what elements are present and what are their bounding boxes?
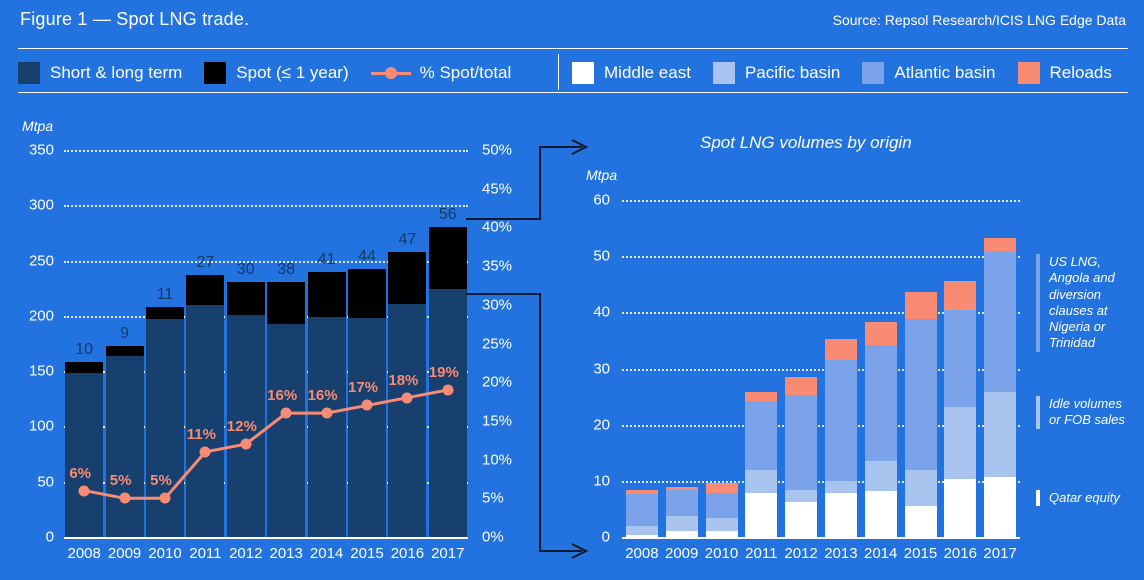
pct-point-2011[interactable] [200,446,211,457]
right-bar-segment-pacific-basin [745,470,777,493]
right-bar-segment-reloads [865,322,897,345]
left-bar-value-label: 11 [146,286,184,304]
right-bar-2016[interactable] [944,281,976,537]
right-bar-segment-pacific-basin [825,481,857,493]
left-y2-tick: 45% [482,180,512,197]
right-bar-segment-middle-east [745,493,777,537]
right-x-tick: 2009 [662,545,702,562]
left-bar-value-label: 10 [65,341,103,359]
left-y-tick: 150 [10,363,54,380]
right-bar-2011[interactable] [745,392,777,537]
right-chart-annotation-1: Idle volumes or FOB sales [1036,396,1128,429]
left-bar-segment-spot [348,269,386,318]
left-bar-value-label: 44 [348,248,386,266]
left-y-tick: 0 [10,529,54,546]
right-bar-segment-atlantic-basin [865,345,897,460]
left-y2-tick: 15% [482,412,512,429]
left-bar-segment-long-term [65,373,103,537]
figure-root: Figure 1 — Spot LNG trade. Source: Repso… [0,0,1144,580]
pct-value-label: 11% [187,426,216,443]
right-y-tick: 10 [566,472,610,489]
left-bar-value-label: 30 [227,261,265,279]
left-x-tick: 2015 [347,545,387,562]
right-bar-2010[interactable] [706,483,738,537]
right-bar-segment-middle-east [785,502,817,537]
right-y-tick: 0 [566,529,610,546]
right-bar-segment-middle-east [666,531,698,537]
right-gridline [622,200,1020,202]
pct-value-label: 5% [150,472,172,489]
right-bar-segment-middle-east [626,535,658,537]
right-bar-segment-middle-east [944,479,976,537]
right-bar-segment-pacific-basin [626,526,658,535]
right-bar-segment-middle-east [706,531,738,537]
right-bar-2013[interactable] [825,339,857,537]
right-y-tick: 30 [566,360,610,377]
left-bar-segment-spot [186,275,224,305]
left-bar-segment-long-term [429,289,467,537]
right-bar-2014[interactable] [865,322,897,537]
left-bar-value-label: 56 [429,206,467,224]
left-y-tick: 300 [10,197,54,214]
left-x-tick: 2008 [64,545,104,562]
left-bar-2014[interactable] [308,272,346,537]
left-y2-tick: 50% [482,142,512,159]
pct-value-label: 16% [267,387,297,404]
right-bar-segment-reloads [706,483,738,493]
left-x-tick: 2012 [226,545,266,562]
right-y-tick: 50 [566,248,610,265]
right-chart-annotation-0: US LNG, Angola and diversion clauses at … [1036,254,1128,352]
left-y-tick: 250 [10,252,54,269]
pct-point-2014[interactable] [321,408,332,419]
right-gridline [622,256,1020,258]
right-x-tick: 2015 [901,545,941,562]
left-bar-segment-spot [65,362,103,373]
pct-value-label: 12% [227,418,257,435]
left-bar-segment-long-term [106,356,144,537]
right-bar-segment-atlantic-basin [745,401,777,470]
right-x-tick: 2011 [741,545,781,562]
right-bar-segment-reloads [944,281,976,309]
left-bar-segment-long-term [348,318,386,537]
right-bar-segment-pacific-basin [905,470,937,507]
left-y-tick: 50 [10,473,54,490]
right-bar-2012[interactable] [785,377,817,537]
right-x-tick: 2010 [702,545,742,562]
left-x-axis [64,537,468,539]
right-bar-segment-reloads [984,238,1016,251]
left-gridline [64,150,468,152]
right-bar-segment-atlantic-basin [905,319,937,470]
pct-point-2016[interactable] [402,392,413,403]
left-x-tick: 2016 [387,545,427,562]
right-bar-segment-pacific-basin [666,516,698,531]
left-bar-2008[interactable] [65,362,103,537]
pct-value-label: 19% [429,364,459,381]
left-bar-segment-spot [106,346,144,356]
right-bar-segment-atlantic-basin [666,490,698,516]
right-bar-segment-atlantic-basin [626,494,658,525]
left-axis-unit: Mtpa [22,118,53,134]
left-bar-segment-long-term [388,304,426,537]
pct-point-2013[interactable] [281,408,292,419]
right-x-tick: 2017 [980,545,1020,562]
right-bar-2017[interactable] [984,238,1016,537]
right-bar-segment-pacific-basin [785,490,817,502]
right-bar-segment-middle-east [825,493,857,537]
right-bar-segment-reloads [825,339,857,359]
left-bar-value-label: 9 [106,325,144,343]
pct-value-label: 6% [69,465,91,482]
right-bar-2009[interactable] [666,487,698,537]
left-bar-segment-spot [146,307,184,319]
right-y-tick: 20 [566,416,610,433]
right-bar-segment-middle-east [905,506,937,537]
right-bar-segment-atlantic-basin [785,395,817,489]
right-bar-segment-atlantic-basin [984,251,1016,392]
right-bar-segment-pacific-basin [706,518,738,531]
right-bar-segment-reloads [785,377,817,395]
left-y-tick: 350 [10,142,54,159]
pct-point-2010[interactable] [160,493,171,504]
left-bar-2011[interactable] [186,275,224,537]
left-y2-tick: 5% [482,490,504,507]
left-bar-segment-spot [267,282,305,324]
right-bar-segment-middle-east [865,491,897,536]
right-bar-segment-atlantic-basin [825,360,857,481]
left-x-tick: 2013 [266,545,306,562]
right-bar-segment-pacific-basin [944,407,976,479]
left-y2-tick: 0% [482,529,504,546]
right-y-tick: 40 [566,304,610,321]
left-gridline [64,205,468,207]
right-x-tick: 2016 [940,545,980,562]
left-y2-tick: 25% [482,335,512,352]
right-chart-annotation-2: Qatar equity [1036,490,1128,506]
right-bar-segment-pacific-basin [984,392,1016,477]
right-x-tick: 2014 [861,545,901,562]
left-y2-tick: 35% [482,258,512,275]
left-x-tick: 2010 [145,545,185,562]
right-x-tick: 2012 [781,545,821,562]
right-bar-segment-middle-east [984,477,1016,537]
pct-value-label: 5% [110,472,132,489]
left-bar-segment-spot [429,227,467,289]
pct-value-label: 18% [388,372,418,389]
left-bar-segment-spot [388,252,426,304]
left-bar-2017[interactable] [429,227,467,537]
pct-value-label: 17% [348,379,378,396]
left-bar-value-label: 38 [267,261,305,279]
left-y2-tick: 40% [482,219,512,236]
left-bar-2009[interactable] [106,346,144,537]
left-x-tick: 2011 [185,545,225,562]
right-y-tick: 60 [566,192,610,209]
left-bar-value-label: 41 [308,251,346,269]
left-bar-segment-long-term [308,317,346,537]
left-y-tick: 200 [10,307,54,324]
left-bar-segment-spot [308,272,346,317]
right-bar-segment-pacific-basin [865,461,897,492]
left-bar-value-label: 47 [388,231,426,249]
right-bar-segment-reloads [905,292,937,319]
left-bar-segment-long-term [146,319,184,537]
left-y-tick: 100 [10,418,54,435]
left-x-tick: 2017 [428,545,468,562]
pct-value-label: 16% [308,387,338,404]
right-bar-segment-atlantic-basin [944,310,976,408]
right-bar-segment-atlantic-basin [706,493,738,519]
left-bar-segment-spot [227,282,265,315]
left-bar-segment-long-term [267,324,305,537]
right-bar-segment-reloads [745,392,777,401]
left-bar-segment-long-term [186,305,224,537]
right-x-tick: 2008 [622,545,662,562]
right-x-axis [622,537,1020,539]
left-bar-value-label: 27 [186,254,224,272]
pct-point-2015[interactable] [362,400,373,411]
chart-spot-lng-volumes-by-origin: Mtpa Spot LNG volumes by origin 01020304… [560,0,1144,580]
right-x-tick: 2013 [821,545,861,562]
left-x-tick: 2014 [306,545,346,562]
pct-point-2017[interactable] [442,384,453,395]
chart-spot-lng-trade: Mtpa 0501001502002503003500%5%10%15%20%2… [0,0,560,580]
left-x-tick: 2009 [104,545,144,562]
right-bar-2008[interactable] [626,490,658,537]
left-y2-tick: 20% [482,374,512,391]
left-bar-2012[interactable] [227,282,265,537]
right-chart-title: Spot LNG volumes by origin [700,133,912,153]
left-y2-tick: 10% [482,451,512,468]
right-axis-unit: Mtpa [586,167,617,183]
right-bar-2015[interactable] [905,292,937,537]
left-y2-tick: 30% [482,296,512,313]
pct-point-2012[interactable] [240,439,251,450]
pct-point-2009[interactable] [119,493,130,504]
pct-point-2008[interactable] [79,485,90,496]
